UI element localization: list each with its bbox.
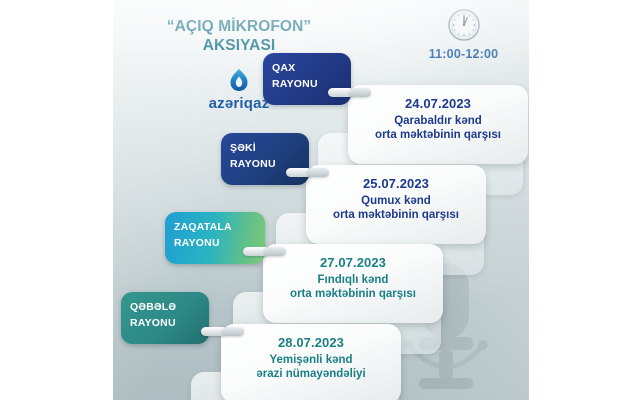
schedule-card[interactable]: 27.07.2023 Fındıqlı kənd orta məktəbinin… <box>263 244 443 323</box>
card-date: 28.07.2023 <box>221 335 401 350</box>
card-date: 27.07.2023 <box>263 255 443 270</box>
district-badge[interactable]: ŞƏKİ RAYONU <box>221 133 309 185</box>
schedule-card[interactable]: 24.07.2023 Qarabaldır kənd orta məktəbin… <box>348 85 528 164</box>
district-badge[interactable]: ZAQATALA RAYONU <box>165 212 265 264</box>
district-name: QAX <box>272 62 295 74</box>
card-place-line-2: ərazi nümayəndəliyi <box>221 368 401 380</box>
page-title: “AÇIQ MİKROFON” AKSIYASI <box>113 18 365 56</box>
district-name: QƏBƏLƏ <box>130 301 176 313</box>
schedule-card[interactable]: 25.07.2023 Qumux kənd orta məktəbinin qa… <box>306 165 486 244</box>
card-place-line-2: orta məktəbinin qarşısı <box>263 288 443 300</box>
chain-link-icon <box>264 247 286 256</box>
card-place-line-1: Yemişənli kənd <box>221 354 401 366</box>
card-place-line-1: Qarabaldır kənd <box>348 115 528 127</box>
clock-icon <box>401 8 526 42</box>
chain-link-icon <box>307 168 329 177</box>
chain-link-icon <box>222 327 244 336</box>
schedule-time-block: 11:00-12:00 <box>401 8 526 61</box>
schedule-card[interactable]: 28.07.2023 Yemişənli kənd ərazi nümayənd… <box>221 324 401 400</box>
poster-canvas: “AÇIQ MİKROFON” AKSIYASI azəriqaz <box>113 0 529 400</box>
schedule-time: 11:00-12:00 <box>401 47 526 61</box>
district-badge[interactable]: QƏBƏLƏ RAYONU <box>121 292 209 344</box>
chain-link-icon <box>349 88 371 97</box>
card-place-line-2: orta məktəbinin qarşısı <box>306 209 486 221</box>
district-badge-label: QƏBƏLƏ RAYONU <box>130 300 203 332</box>
card-place-line-1: Fındıqlı kənd <box>263 274 443 286</box>
card-date: 24.07.2023 <box>348 96 528 111</box>
card-place-line-1: Qumux kənd <box>306 195 486 207</box>
district-suffix: RAYONU <box>130 316 203 332</box>
card-date: 25.07.2023 <box>306 176 486 191</box>
card-place-line-2: orta məktəbinin qarşısı <box>348 129 528 141</box>
district-name: ZAQATALA <box>174 221 232 233</box>
district-badge[interactable]: QAX RAYONU <box>263 53 351 105</box>
district-name: ŞƏKİ <box>230 142 256 154</box>
flame-icon <box>228 68 250 92</box>
title-line-1: “AÇIQ MİKROFON” <box>167 18 311 35</box>
